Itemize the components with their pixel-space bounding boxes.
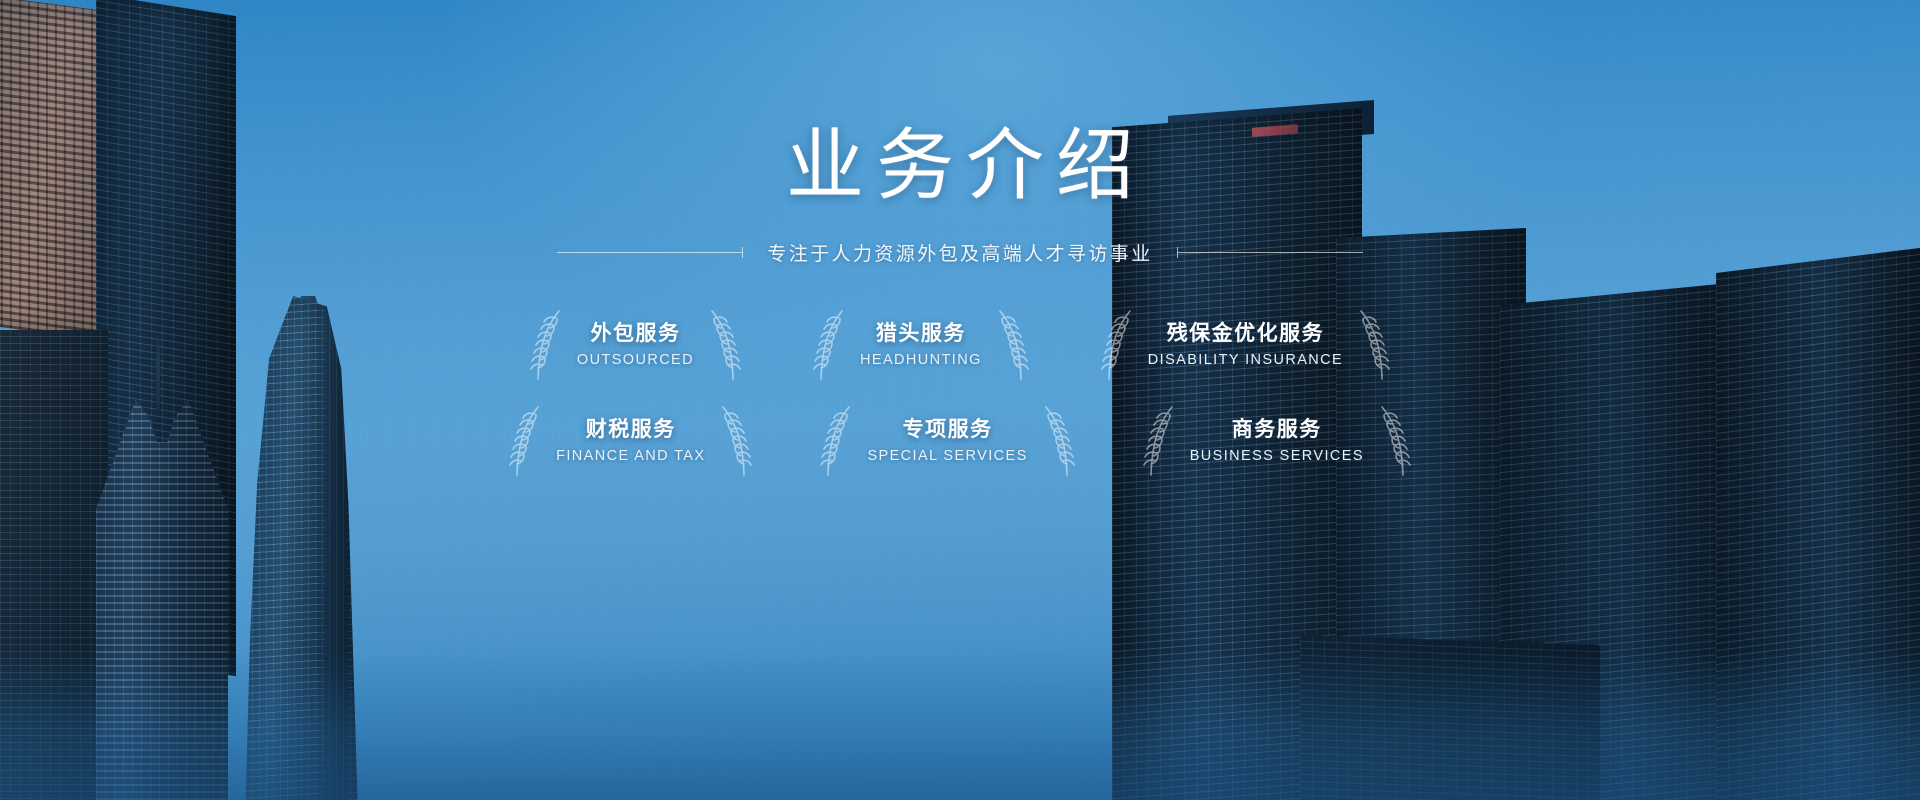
service-label-group: 残保金优化服务 DISABILITY INSURANCE: [1134, 321, 1357, 370]
laurel-branch-icon: [819, 405, 853, 477]
decorative-rule-left: [557, 252, 743, 253]
service-row-2: 财税服务 FINANCE AND TAX: [494, 402, 1426, 480]
service-label-group: 商务服务 BUSINESS SERVICES: [1176, 417, 1378, 466]
service-name-cn: 残保金优化服务: [1148, 321, 1343, 347]
laurel-branch-icon: [708, 309, 742, 381]
service-name-en: SPECIAL SERVICES: [867, 448, 1027, 465]
service-name-en: DISABILITY INSURANCE: [1148, 352, 1343, 369]
subtitle-row: 专注于人力资源外包及高端人才寻访事业: [0, 239, 1920, 266]
service-name-cn: 财税服务: [556, 417, 705, 443]
service-list: 外包服务 OUTSOURCED: [0, 306, 1920, 480]
service-item-business-services[interactable]: 商务服务 BUSINESS SERVICES: [1128, 402, 1426, 480]
service-label-group: 猎头服务 HEADHUNTING: [846, 321, 996, 370]
laurel-branch-icon: [1142, 405, 1176, 477]
hero-content: 业务介绍 专注于人力资源外包及高端人才寻访事业: [0, 0, 1920, 800]
service-item-special-services[interactable]: 专项服务 SPECIAL SERVICES: [805, 402, 1089, 480]
service-name-en: FINANCE AND TAX: [556, 448, 705, 465]
laurel-branch-icon: [996, 309, 1030, 381]
laurel-branch-icon: [1357, 309, 1391, 381]
service-item-outsourced[interactable]: 外包服务 OUTSOURCED: [515, 306, 756, 384]
service-name-cn: 专项服务: [867, 417, 1027, 443]
service-name-cn: 猎头服务: [860, 321, 982, 347]
service-name-cn: 商务服务: [1190, 417, 1364, 443]
laurel-branch-icon: [1378, 405, 1412, 477]
service-label-group: 财税服务 FINANCE AND TAX: [542, 417, 719, 466]
laurel-branch-icon: [508, 405, 542, 477]
business-intro-hero-banner: 业务介绍 专注于人力资源外包及高端人才寻访事业: [0, 0, 1920, 800]
service-label-group: 外包服务 OUTSOURCED: [563, 321, 708, 370]
service-label-group: 专项服务 SPECIAL SERVICES: [853, 417, 1041, 466]
laurel-branch-icon: [812, 309, 846, 381]
service-name-en: BUSINESS SERVICES: [1190, 448, 1364, 465]
service-item-finance-and-tax[interactable]: 财税服务 FINANCE AND TAX: [494, 402, 767, 480]
laurel-branch-icon: [529, 309, 563, 381]
service-item-disability-insurance[interactable]: 残保金优化服务 DISABILITY INSURANCE: [1086, 306, 1405, 384]
page-title: 业务介绍: [0, 126, 1920, 204]
service-name-en: OUTSOURCED: [577, 352, 694, 369]
service-row-1: 外包服务 OUTSOURCED: [515, 306, 1405, 384]
service-item-headhunting[interactable]: 猎头服务 HEADHUNTING: [798, 306, 1044, 384]
page-subtitle: 专注于人力资源外包及高端人才寻访事业: [767, 239, 1152, 266]
service-name-en: HEADHUNTING: [860, 352, 982, 369]
decorative-rule-right: [1177, 252, 1363, 253]
laurel-branch-icon: [1100, 309, 1134, 381]
laurel-branch-icon: [1042, 405, 1076, 477]
laurel-branch-icon: [719, 405, 753, 477]
service-name-cn: 外包服务: [577, 321, 694, 347]
